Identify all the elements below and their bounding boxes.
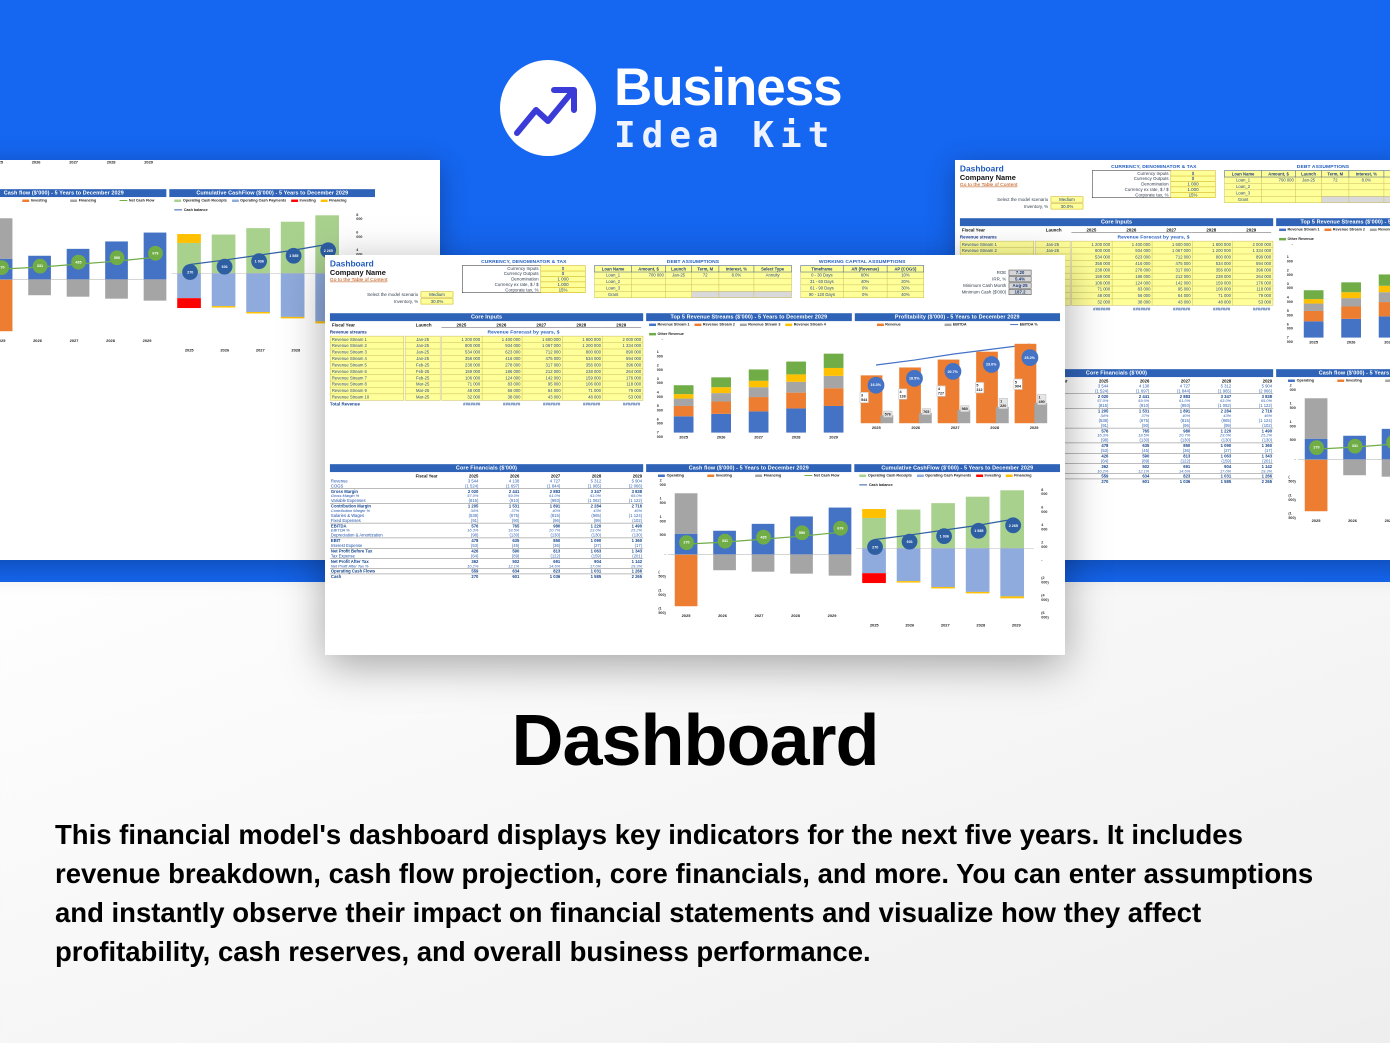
legend-item: Operating: [658, 473, 684, 477]
fin-row-value: 1 585: [1191, 479, 1232, 484]
data-point-bubble: 435: [71, 255, 86, 270]
cashflow-chart-title: Cash flow ($'000) - 5 Years to December …: [0, 189, 167, 197]
category-label: 2029: [815, 435, 852, 439]
legend-swatch: [785, 323, 792, 325]
legend-swatch: [1325, 228, 1332, 230]
revenue-stream-value[interactable]: 48 000: [1192, 299, 1232, 305]
legend-item: EBITDA %: [1010, 322, 1037, 326]
data-point-bubble: 435: [756, 530, 771, 545]
year-header: 2025: [441, 323, 481, 328]
y-tick-label: 3 000: [1287, 282, 1293, 291]
revenue-stream-value[interactable]: 53 000: [603, 394, 643, 400]
data-label: 3 544: [859, 392, 868, 403]
y-tick-label: 6 000: [657, 417, 663, 426]
year-header: 2029: [601, 323, 641, 328]
legend-swatch: [1337, 379, 1344, 381]
inventory-input[interactable]: 30.0%: [421, 298, 454, 304]
data-point-bubble: 18.5%: [906, 370, 923, 387]
legend-item: Operating Cash Payments: [232, 198, 286, 202]
y-tick-label: 5 000: [657, 403, 663, 412]
kpi-label: IRR, %: [992, 277, 1006, 282]
currency-row-value[interactable]: 15%: [541, 287, 585, 292]
legend-item: Other Revenue: [1279, 236, 1314, 240]
legend-item: Investing: [707, 473, 732, 477]
kpi-value: 187.2: [1009, 289, 1032, 295]
company-name: Company Name: [960, 174, 1083, 182]
category-label: 2025: [665, 435, 702, 439]
revenue-streams-label: Revenue streams: [330, 329, 404, 334]
category-label: 2028: [92, 339, 129, 343]
brand-name-bottom: Idea Kit: [614, 118, 842, 154]
legend-item: Revenue Stream 2: [695, 322, 735, 326]
currency-row: Corporate tax, % 15%: [1092, 192, 1215, 197]
y-tick-label: 6 000: [1287, 322, 1293, 331]
kpi-row: Minimum Cash Month Aug-25: [933, 283, 1032, 289]
top5-chart-title: Top 5 Revenue Streams ($'000) - 5 Years …: [1276, 218, 1390, 226]
brand-name-top: Business: [614, 61, 842, 114]
debt-cell[interactable]: [754, 291, 792, 297]
debt-cell[interactable]: [1322, 196, 1349, 202]
top5-legend: Revenue Stream 1Revenue Stream 2Revenue …: [1276, 226, 1390, 242]
revenue-stream-value[interactable]: 38 000: [1112, 299, 1152, 305]
data-point-bubble: 679: [148, 246, 163, 261]
wc-cell[interactable]: 0%: [843, 291, 887, 297]
y-tick-label: (1 000): [658, 588, 665, 597]
kpi-row: ROE 7.20: [933, 270, 1032, 276]
legend-swatch: [695, 323, 702, 325]
revenue-stream-value[interactable]: 43 000: [522, 394, 562, 400]
total-revenue-value: #######: [440, 402, 480, 407]
debt-cell[interactable]: [1384, 196, 1390, 202]
total-revenue-value: #######: [1070, 307, 1110, 312]
total-revenue-value: #######: [1150, 307, 1190, 312]
data-point-bubble: 25.2%: [1021, 349, 1038, 366]
cumulative-legend: Operating Cash ReceiptsOperating Cash Pa…: [855, 472, 1061, 488]
legend-swatch: [877, 323, 884, 325]
legend-line-swatch: [174, 209, 182, 210]
inventory-label: Inventory, %: [394, 299, 418, 304]
total-revenue-value: #######: [600, 402, 640, 407]
kpi-value: 7.20: [1009, 270, 1032, 276]
category-label: 2029: [1014, 426, 1053, 430]
category-label: 2026: [1332, 340, 1369, 344]
bar-group: [1304, 244, 1323, 338]
y-tick-label: 2 000: [657, 363, 663, 372]
legend-item: Financing: [1006, 473, 1032, 477]
fin-row-value: 1 585: [561, 574, 602, 579]
legend-item: Cash balance: [859, 482, 892, 486]
legend-swatch: [976, 474, 983, 476]
bar-group: [674, 339, 693, 433]
currency-panel-caption: CURRENCY, DENOMINATOR & TAX: [462, 259, 585, 264]
y-tick-label: (6 000): [1041, 611, 1048, 620]
y-tick-label: (1 500): [1288, 511, 1295, 520]
revenue-stream-value[interactable]: 43 000: [1152, 299, 1192, 305]
revenue-stream-name[interactable]: Revenue Stream 10: [330, 394, 404, 400]
legend-swatch: [649, 333, 656, 335]
debt-panel-caption: DEBT ASSUMPTIONS: [594, 259, 791, 264]
launch-label: Launch: [406, 323, 442, 328]
y-tick-label: 1 000: [660, 515, 666, 524]
category-label: 2029: [999, 623, 1035, 627]
year-header: 2027: [521, 323, 561, 328]
legend-swatch: [1385, 379, 1390, 381]
data-label: 4 138: [898, 389, 907, 400]
y-tick-label: 7 000: [657, 430, 663, 439]
debt-row: Loan_3: [1225, 190, 1390, 196]
kpi-label: Minimum Cash Month: [963, 283, 1006, 288]
year-header: 2027: [1151, 228, 1191, 233]
company-name: Company Name: [330, 269, 453, 277]
fin-row-value: 1 036: [1150, 479, 1191, 484]
debt-cell[interactable]: [1296, 196, 1322, 202]
legend-line-swatch: [1010, 324, 1018, 325]
legend-swatch: [944, 323, 951, 325]
y-tick-label: -: [1292, 241, 1293, 245]
fiscal-year-label: Fiscal Year: [332, 323, 406, 328]
legend-item: Revenue Stream 1: [1279, 227, 1319, 231]
cashflow-legend: OperatingInvestingFinancingNet Cash Flow: [646, 472, 852, 478]
debt-cell[interactable]: [692, 291, 719, 297]
y-tick-label: 6 000: [356, 230, 362, 239]
legend-item: Investing: [976, 473, 1001, 477]
y-tick-label: (4 000): [1041, 593, 1048, 602]
category-label: 2025: [668, 614, 705, 618]
data-label: 5 904: [1013, 379, 1022, 390]
y-tick-label: 5 000: [1287, 308, 1293, 317]
cumulative-cashflow-chart-title: Cumulative CashFlow ($'000) - 5 Years to…: [855, 464, 1061, 472]
data-label: 5 312: [975, 382, 984, 393]
bar-group: [824, 339, 843, 433]
category-label: 2027: [1370, 340, 1390, 344]
y-tick-label: 8 000: [1041, 487, 1047, 496]
legend-item: Operating Cash Receipts: [174, 198, 226, 202]
data-point-bubble: 679: [833, 521, 848, 536]
debt-panel-caption: DEBT ASSUMPTIONS: [1224, 164, 1390, 169]
y-tick-label: 2 000: [1287, 268, 1293, 277]
legend-swatch: [859, 474, 866, 476]
y-tick-label: ( 500): [1288, 475, 1295, 484]
data-point-bubble: 270: [1309, 440, 1324, 455]
cumulative-legend: Operating Cash ReceiptsOperating Cash Pa…: [170, 197, 376, 213]
debt-row: Grant: [595, 291, 792, 297]
debt-cell[interactable]: [666, 291, 692, 297]
currency-row-label: Corporate tax, %: [1092, 192, 1170, 197]
wc-row: 0 - 30 Days60%10%: [801, 272, 924, 278]
y-tick-label: 1 500: [1290, 401, 1296, 410]
data-label: 980: [960, 406, 969, 412]
category-label: 2027: [56, 339, 93, 343]
debt-cell[interactable]: Grant: [1225, 196, 1262, 202]
legend-swatch: [174, 199, 181, 201]
legend-item: Investing: [22, 198, 47, 202]
net-cash-flow-line: [668, 480, 851, 628]
fin-row-value: 2 265: [1232, 479, 1273, 484]
legend-swatch: [917, 474, 924, 476]
debt-cell[interactable]: [632, 291, 666, 297]
data-point-bubble: 331: [33, 259, 48, 274]
dashboard-title: Dashboard: [960, 164, 1083, 174]
legend-item: Financing: [755, 473, 781, 477]
top5-legend: Revenue Stream 1Revenue Stream 2Revenue …: [646, 321, 851, 337]
revenue-stream-value[interactable]: 32 000: [442, 394, 482, 400]
trending-up-arrow-icon: [514, 80, 584, 138]
bar-group: [1341, 244, 1360, 338]
top5-chart-title: Top 5 Revenue Streams ($'000) - 5 Years …: [646, 313, 851, 321]
y-tick-label: (1 000): [1288, 493, 1295, 502]
debt-row: Loan_1700 000Jan-25728.0%Annuity: [1225, 177, 1390, 183]
wc-panel-caption: WORKING CAPITAL ASSUMPTIONS: [801, 259, 924, 264]
currency-panel-caption: CURRENCY, DENOMINATOR & TAX: [1092, 164, 1215, 169]
year-header: 2029: [1231, 228, 1271, 233]
category-label: 2026: [19, 339, 56, 343]
year-header: 2026: [481, 323, 521, 328]
net-cash-flow-line: [0, 205, 165, 353]
revenue-stream-value[interactable]: 32 000: [1072, 299, 1112, 305]
core-inputs-caption: Core Inputs: [330, 313, 643, 321]
page-title: Dashboard: [0, 700, 1390, 782]
cash-balance-line: [171, 215, 349, 343]
revenue-stream-value[interactable]: 48 000: [562, 394, 602, 400]
debt-row: Loan_2: [1225, 183, 1390, 189]
category-label: 2028: [777, 435, 814, 439]
kpi-label: ROE: [997, 270, 1007, 275]
bar-group: [1379, 244, 1390, 338]
legend-item: Investing: [291, 198, 316, 202]
legend-item: Financing: [70, 198, 96, 202]
legend-swatch: [321, 199, 328, 201]
dashboard-title: Dashboard: [330, 259, 453, 269]
category-label: 2026: [896, 426, 935, 430]
legend-item: Investing: [1337, 378, 1362, 382]
revenue-stream-launch[interactable]: Mar-25: [405, 394, 440, 400]
y-tick-label: 500: [660, 533, 666, 537]
legend-item: Operating Cash Receipts: [859, 473, 911, 477]
legend-swatch: [707, 474, 714, 476]
y-tick-label: -: [662, 336, 663, 340]
wc-cell[interactable]: 40%: [887, 291, 923, 297]
fin-row-value: 2 265: [602, 574, 643, 579]
revenue-stream-row: 32 00038 00043 00048 00053 000: [442, 394, 643, 400]
currency-row-label: Corporate tax, %: [462, 287, 540, 292]
y-tick-label: 500: [1290, 438, 1296, 442]
y-tick-label: 7 000: [1287, 335, 1293, 344]
legend-line-swatch: [805, 475, 813, 476]
debt-row: Grant: [1225, 196, 1390, 202]
category-label: 2028: [278, 348, 314, 352]
revenue-stream-value[interactable]: 53 000: [1233, 299, 1273, 305]
cumulative-cashflow-chart-title: Cumulative CashFlow ($'000) - 5 Years to…: [170, 189, 376, 197]
debt-cell[interactable]: Grant: [595, 291, 632, 297]
data-label: 576: [883, 411, 892, 417]
revenue-streams-label: Revenue streams: [960, 234, 1034, 239]
currency-row: Corporate tax, % 15%: [462, 287, 585, 292]
category-label: 2025: [1298, 519, 1335, 523]
cashflow-legend: OperatingInvestingFinancingNet Cash Flow: [0, 197, 167, 203]
fin-row-value: 270: [438, 574, 479, 579]
category-label: 2027: [55, 160, 92, 164]
legend-item: Revenue Stream 3: [740, 322, 780, 326]
y-tick-label: 6 000: [1041, 505, 1047, 514]
legend-item: Other Revenue: [649, 331, 684, 335]
category-label: 2027: [740, 435, 777, 439]
total-revenue-value: #######: [520, 402, 560, 407]
data-label: 1 220: [999, 398, 1008, 409]
category-label: 2028: [975, 426, 1014, 430]
dashboard-sheet-center: Dashboard Company Name Go to the Table o…: [325, 255, 1065, 655]
category-label: 2026: [704, 614, 741, 618]
category-label: 2027: [935, 426, 974, 430]
fin-row-value: 270: [1068, 479, 1109, 484]
y-tick-label: ( 500): [658, 570, 665, 579]
wc-row: 31 - 60 Days40%20%: [801, 278, 924, 284]
legend-item: Revenue Stream 1: [649, 322, 689, 326]
legend-item: Financing: [1385, 378, 1390, 382]
data-label: 765: [922, 408, 931, 414]
category-label: 2026: [207, 348, 243, 352]
category-label: 2027: [1371, 519, 1390, 523]
legend-swatch: [1279, 228, 1286, 230]
legend-item: Net Cash Flow: [120, 198, 155, 202]
category-label: 2025: [171, 348, 207, 352]
category-label: 2026: [892, 623, 928, 627]
legend-item: Revenue Stream 4: [785, 322, 825, 326]
y-tick-label: 8 000: [356, 212, 362, 221]
legend-swatch: [1279, 238, 1286, 240]
category-label: 2025: [0, 339, 19, 343]
debt-cell[interactable]: [1349, 196, 1384, 202]
scenario-select[interactable]: Medium: [421, 292, 454, 298]
revenue-stream-value[interactable]: 38 000: [482, 394, 522, 400]
category-label: 2027: [741, 614, 778, 618]
scenario-label: Select the model scenario: [367, 292, 418, 297]
category-label: 2026: [702, 435, 739, 439]
category-label: 2029: [130, 160, 167, 164]
legend-item: EBITDA: [944, 322, 966, 326]
y-tick-label: 4 000: [1041, 523, 1047, 532]
cashflow-chart-title: Cash flow ($'000) - 5 Years to December …: [646, 464, 852, 472]
y-tick-label: -: [1041, 558, 1042, 562]
fin-row-label: Cash: [330, 574, 439, 579]
category-label: 2026: [17, 160, 54, 164]
y-tick-label: -: [1295, 456, 1296, 460]
category-label: 2028: [963, 623, 999, 627]
legend-swatch: [232, 199, 239, 201]
currency-row-value[interactable]: 15%: [1171, 192, 1215, 197]
table-of-content-link[interactable]: Go to the Table of Content: [330, 277, 453, 282]
category-label: 2029: [129, 339, 166, 343]
wc-row: 90 - 120 Days0%40%: [801, 291, 924, 297]
kpi-row: Minimum Cash ($'000) 187.2: [933, 289, 1032, 295]
legend-item: Revenue Stream 2: [1325, 227, 1365, 231]
year-header: 2026: [1111, 228, 1151, 233]
fin-row-value: 601: [479, 574, 520, 579]
table-of-content-link[interactable]: Go to the Table of Content: [960, 182, 1083, 187]
legend-item: Revenue: [877, 322, 901, 326]
debt-cell[interactable]: [719, 291, 754, 297]
legend-swatch: [755, 474, 762, 476]
kpi-value: Aug-25: [1009, 283, 1032, 289]
legend-swatch: [740, 323, 747, 325]
fin-row: Cash2706011 0361 5852 265: [330, 574, 643, 579]
scenario-select[interactable]: Medium: [1051, 197, 1084, 203]
legend-swatch: [22, 199, 29, 201]
kpi-row: IRR, % 5.4%: [933, 276, 1032, 282]
net-cash-flow-line: [1298, 385, 1390, 533]
legend-item: Financing: [321, 198, 347, 202]
legend-item: Revenue Stream 3: [1370, 227, 1390, 231]
category-label: 2027: [243, 348, 279, 352]
bar-group: [711, 339, 730, 433]
inventory-input[interactable]: 30.0%: [1051, 203, 1084, 209]
legend-swatch: [1288, 379, 1295, 381]
legend-item: Cash balance: [174, 207, 207, 211]
y-tick-label: (2 000): [1041, 575, 1048, 584]
logo-badge-circle: [500, 60, 596, 156]
category-label: 2025: [857, 426, 896, 430]
legend-swatch: [1370, 228, 1377, 230]
category-label: 2028: [777, 614, 814, 618]
y-tick-label: (1 500): [658, 606, 665, 615]
forecast-caption: Revenue Forecast by years, $: [1034, 234, 1273, 239]
category-label: 2029: [814, 614, 851, 618]
category-label: 2025: [856, 623, 892, 627]
data-point-bubble: 20.7%: [944, 363, 961, 380]
total-revenue-value: #######: [1110, 307, 1150, 312]
profitability-chart-title: Profitability ($'000) - 5 Years to Decem…: [855, 313, 1060, 321]
total-revenue-value: #######: [1190, 307, 1230, 312]
year-header: 2028: [1191, 228, 1231, 233]
data-label: 1 490: [1037, 394, 1046, 405]
bar-group: [786, 339, 805, 433]
y-tick-label: 2 000: [1290, 383, 1296, 392]
core-inputs-caption: Core Inputs: [960, 218, 1273, 226]
category-label: 2028: [92, 160, 129, 164]
y-tick-label: 1 000: [1287, 255, 1293, 264]
data-point-bubble: 16.3%: [867, 377, 884, 394]
y-tick-label: 4 000: [1287, 295, 1293, 304]
wc-cell[interactable]: 90 - 120 Days: [801, 291, 843, 297]
legend-swatch: [70, 199, 77, 201]
debt-cell[interactable]: [1262, 196, 1296, 202]
page-description: This financial model's dashboard display…: [55, 815, 1345, 971]
core-financials-caption: Core Financials ($'000): [330, 464, 643, 472]
y-tick-label: 1 000: [1290, 420, 1296, 429]
y-tick-label: 3 000: [657, 377, 663, 386]
y-tick-label: 2 000: [660, 478, 666, 487]
data-point-bubble: 331: [718, 534, 733, 549]
total-revenue-value: #######: [560, 402, 600, 407]
profitability-legend: RevenueEBITDAEBITDA %: [855, 321, 1060, 327]
y-tick-label: 1 500: [660, 496, 666, 505]
legend-item: Operating: [1288, 378, 1314, 382]
year-header: 2028: [561, 323, 601, 328]
total-revenue-value: #######: [1230, 307, 1270, 312]
forecast-caption: Revenue Forecast by years, $: [404, 329, 643, 334]
legend-swatch: [658, 474, 665, 476]
fin-row-value: 1 036: [520, 574, 561, 579]
legend-line-swatch: [120, 200, 128, 201]
total-revenue-label: Total Revenue: [330, 402, 440, 407]
y-tick-label: -: [665, 551, 666, 555]
legend-item: Net Cash Flow: [805, 473, 840, 477]
data-point-bubble: 270: [679, 535, 694, 550]
legend-swatch: [291, 199, 298, 201]
total-revenue-value: #######: [480, 402, 520, 407]
category-label: 2027: [928, 623, 964, 627]
inventory-label: Inventory, %: [1024, 204, 1048, 209]
fiscal-year-label: Fiscal Year: [962, 228, 1036, 233]
